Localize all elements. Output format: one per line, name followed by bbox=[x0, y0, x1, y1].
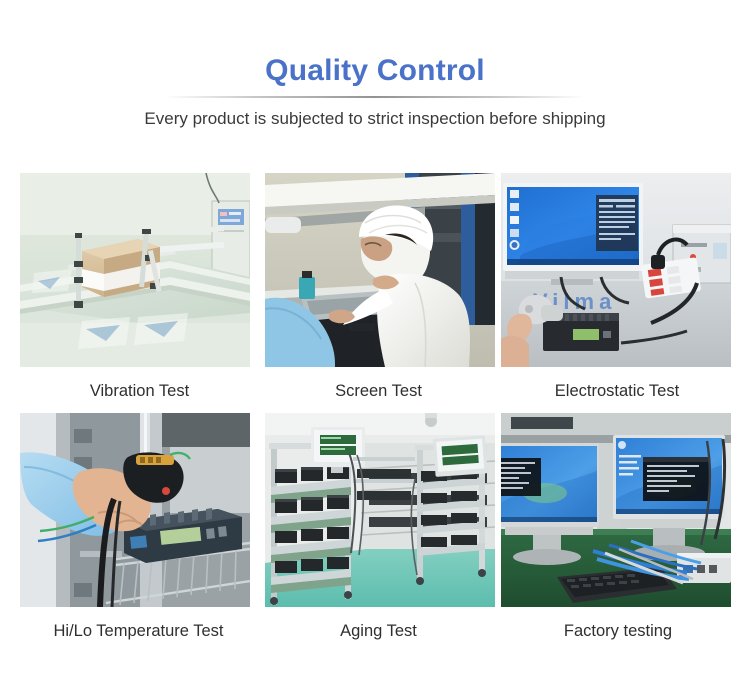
gallery-item-hi-lo-temperature-test[interactable]: Hi/Lo Temperature Test bbox=[20, 413, 257, 653]
page-title: Quality Control bbox=[0, 52, 750, 90]
gallery-row: Vibration Test bbox=[20, 173, 730, 413]
title-divider bbox=[165, 96, 585, 99]
vibration-test-photo[interactable] bbox=[20, 173, 250, 367]
hi-lo-temperature-test-photo[interactable] bbox=[20, 413, 250, 607]
electrostatic-test-photo[interactable]: Vilma bbox=[501, 173, 731, 367]
quality-control-gallery: Vibration Test bbox=[20, 173, 730, 653]
page-header: Quality Control Every product is subject… bbox=[0, 0, 750, 130]
gallery-item-caption: Vibration Test bbox=[20, 367, 257, 413]
gallery-item-caption: Factory testing bbox=[494, 607, 730, 653]
gallery-item-aging-test[interactable]: Aging Test bbox=[257, 413, 494, 653]
aging-test-photo[interactable] bbox=[265, 413, 495, 607]
page-subtitle: Every product is subjected to strict ins… bbox=[0, 108, 750, 130]
gallery-item-electrostatic-test[interactable]: Vilma bbox=[494, 173, 730, 413]
gallery-item-caption: Hi/Lo Temperature Test bbox=[20, 607, 257, 653]
gallery-item-caption: Screen Test bbox=[257, 367, 494, 413]
gallery-item-caption: Aging Test bbox=[257, 607, 494, 653]
gallery-item-vibration-test[interactable]: Vibration Test bbox=[20, 173, 257, 413]
gallery-item-caption: Electrostatic Test bbox=[494, 367, 730, 413]
screen-test-photo[interactable] bbox=[265, 173, 495, 367]
gallery-item-screen-test[interactable]: Screen Test bbox=[257, 173, 494, 413]
factory-testing-photo[interactable] bbox=[501, 413, 731, 607]
gallery-item-factory-testing[interactable]: Factory testing bbox=[494, 413, 730, 653]
gallery-row: Hi/Lo Temperature Test bbox=[20, 413, 730, 653]
quality-control-page: Quality Control Every product is subject… bbox=[0, 0, 750, 677]
